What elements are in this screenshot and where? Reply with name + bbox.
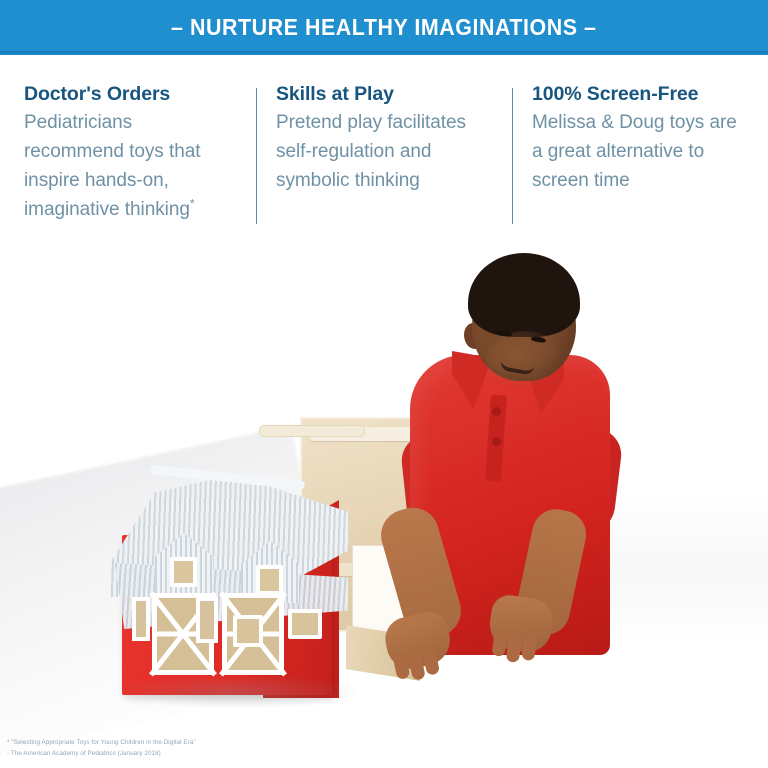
benefit-heading-3: 100% Screen-Free (532, 82, 742, 107)
product-lifestyle-panel: – NURTURE HEALTHY IMAGINATIONS – Doctor'… (0, 0, 768, 768)
child-figure (0, 245, 768, 768)
finger-6 (521, 634, 537, 662)
shirt-button-top (492, 407, 501, 416)
benefit-column-skills-at-play: Skills at Play Pretend play facilitates … (256, 82, 512, 245)
footnote-line-1: * "Selecting Appropriate Toys for Young … (7, 738, 196, 749)
column-divider-2 (512, 88, 513, 224)
lifestyle-photo (0, 245, 768, 768)
benefit-heading-1: Doctor's Orders (24, 82, 230, 107)
benefit-column-screen-free: 100% Screen-Free Melissa & Doug toys are… (512, 82, 768, 245)
benefit-body-3: Melissa & Doug toys are a great alternat… (532, 108, 742, 195)
benefit-columns: Doctor's Orders Pediatricians recommend … (0, 55, 768, 245)
child-hair (468, 253, 580, 337)
footnote-line-2: - The American Academy of Pediatrics (Ja… (7, 749, 196, 760)
benefit-body-1-text: Pediatricians recommend toys that inspir… (24, 112, 200, 220)
shirt-button-bottom (492, 437, 501, 446)
banner-title: – NURTURE HEALTHY IMAGINATIONS – (171, 14, 596, 41)
finger-5 (506, 635, 522, 663)
child-face-shading (486, 331, 564, 389)
column-divider-1 (256, 88, 257, 224)
finger-3 (422, 648, 440, 676)
finger-1 (392, 652, 410, 680)
footnote-marker: * (190, 197, 195, 211)
nurture-banner: – NURTURE HEALTHY IMAGINATIONS – (0, 0, 768, 55)
benefit-body-2: Pretend play facilitates self-regulation… (276, 108, 486, 195)
benefit-column-doctors-orders: Doctor's Orders Pediatricians recommend … (0, 82, 256, 245)
benefit-heading-2: Skills at Play (276, 82, 486, 107)
child-hand-left (381, 609, 454, 673)
footnote-block: * "Selecting Appropriate Toys for Young … (7, 738, 196, 760)
benefit-body-1: Pediatricians recommend toys that inspir… (24, 108, 230, 224)
